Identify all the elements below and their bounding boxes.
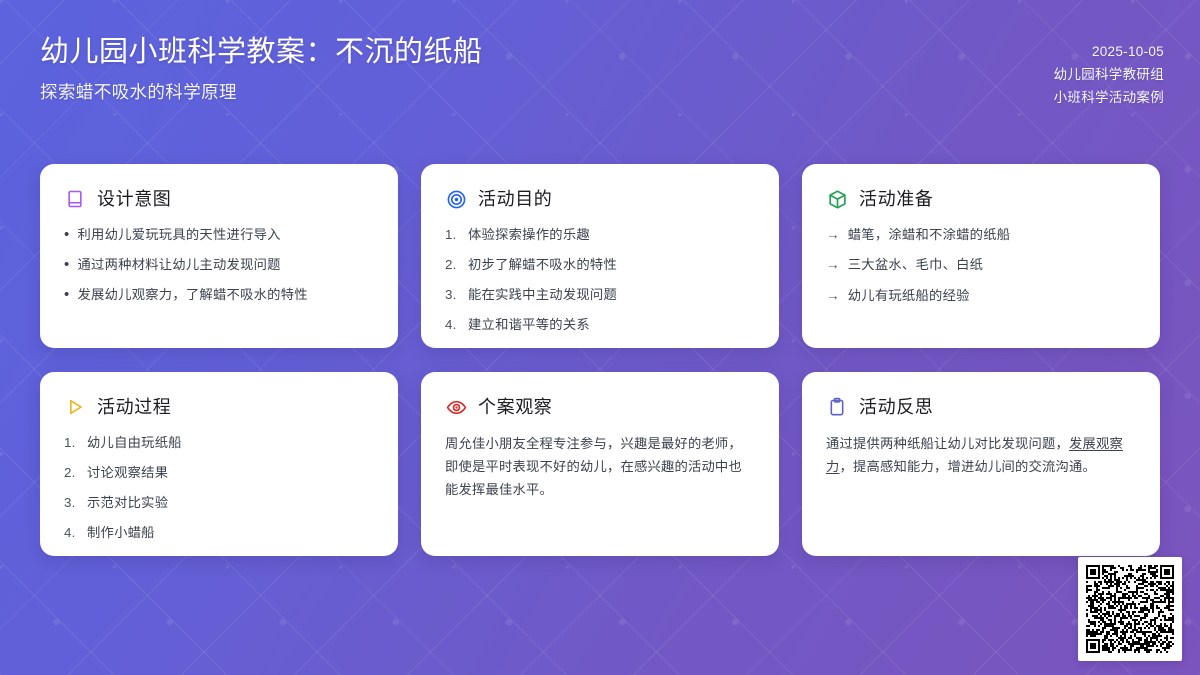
list-item: 1.体验探索操作的乐趣	[445, 225, 755, 246]
list-item-text: 初步了解蜡不吸水的特性	[468, 255, 755, 276]
list-item-text: 讨论观察结果	[87, 463, 374, 484]
list-item-text: 幼儿自由玩纸船	[87, 433, 374, 454]
list-item-text: 建立和谐平等的关系	[468, 315, 755, 336]
card-list: 1.幼儿自由玩纸船2.讨论观察结果3.示范对比实验4.制作小蜡船	[64, 433, 374, 544]
list-item: 3.示范对比实验	[64, 493, 374, 514]
list-item: →蜡笔，涂蜡和不涂蜡的纸船	[826, 225, 1136, 246]
arrow-icon: →	[826, 225, 840, 246]
list-item-text: 发展幼儿观察力，了解蜡不吸水的特性	[78, 285, 374, 306]
card-header: 活动目的	[445, 188, 755, 210]
page-header: 幼儿园小班科学教案：不沉的纸船 探索蜡不吸水的科学原理 2025-10-05 幼…	[0, 0, 1200, 150]
bullet-icon: •	[64, 225, 70, 246]
card-design-intent: 设计意图•利用幼儿爱玩玩具的天性进行导入•通过两种材料让幼儿主动发现问题•发展幼…	[40, 164, 398, 348]
list-item-text: 示范对比实验	[87, 493, 374, 514]
eye-icon	[445, 396, 467, 418]
list-marker-number: 1.	[64, 433, 79, 454]
arrow-icon: →	[826, 286, 840, 307]
list-marker-number: 2.	[64, 463, 79, 484]
meta-organization: 幼儿园科学教研组	[1054, 63, 1164, 86]
card-header: 活动反思	[826, 396, 1136, 418]
list-item: 4.建立和谐平等的关系	[445, 315, 755, 336]
list-item-text: 通过两种材料让幼儿主动发现问题	[78, 255, 374, 276]
card-title: 活动目的	[478, 190, 552, 208]
card-list: 1.体验探索操作的乐趣2.初步了解蜡不吸水的特性3.能在实践中主动发现问题4.建…	[445, 225, 755, 336]
qr-code[interactable]	[1078, 557, 1182, 661]
list-item: →三大盆水、毛巾、白纸	[826, 255, 1136, 276]
page-title: 幼儿园小班科学教案：不沉的纸船	[40, 34, 483, 70]
card-activity-reflection: 活动反思通过提供两种纸船让幼儿对比发现问题，发展观察力，提高感知能力，增进幼儿间…	[802, 372, 1160, 556]
list-item: →幼儿有玩纸船的经验	[826, 286, 1136, 307]
package-icon	[826, 188, 848, 210]
card-header: 设计意图	[64, 188, 374, 210]
paragraph-text: ，提高感知能力，增进幼儿间的交流沟通。	[840, 459, 1096, 474]
list-item-text: 三大盆水、毛巾、白纸	[848, 255, 1136, 276]
list-marker-number: 4.	[445, 315, 460, 336]
slide-canvas: 幼儿园小班科学教案：不沉的纸船 探索蜡不吸水的科学原理 2025-10-05 幼…	[0, 0, 1200, 675]
card-title: 活动反思	[859, 398, 933, 416]
card-header: 活动准备	[826, 188, 1136, 210]
page-subtitle: 探索蜡不吸水的科学原理	[40, 79, 483, 104]
card-activity-prep: 活动准备→蜡笔，涂蜡和不涂蜡的纸船→三大盆水、毛巾、白纸→幼儿有玩纸船的经验	[802, 164, 1160, 348]
card-case-observation: 个案观察周允佳小朋友全程专注参与，兴趣是最好的老师，即使是平时表现不好的幼儿，在…	[421, 372, 779, 556]
list-item: •发展幼儿观察力，了解蜡不吸水的特性	[64, 285, 374, 306]
card-paragraph: 通过提供两种纸船让幼儿对比发现问题，发展观察力，提高感知能力，增进幼儿间的交流沟…	[826, 433, 1136, 479]
list-item-text: 蜡笔，涂蜡和不涂蜡的纸船	[848, 225, 1136, 246]
list-item: •通过两种材料让幼儿主动发现问题	[64, 255, 374, 276]
list-item: 2.讨论观察结果	[64, 463, 374, 484]
list-item: •利用幼儿爱玩玩具的天性进行导入	[64, 225, 374, 246]
list-item-text: 制作小蜡船	[87, 523, 374, 544]
list-item-text: 体验探索操作的乐趣	[468, 225, 755, 246]
card-header: 活动过程	[64, 396, 374, 418]
card-list: →蜡笔，涂蜡和不涂蜡的纸船→三大盆水、毛巾、白纸→幼儿有玩纸船的经验	[826, 225, 1136, 307]
book-icon	[64, 188, 86, 210]
card-grid: 设计意图•利用幼儿爱玩玩具的天性进行导入•通过两种材料让幼儿主动发现问题•发展幼…	[40, 164, 1160, 556]
meta-date: 2025-10-05	[1054, 40, 1164, 63]
card-paragraph: 周允佳小朋友全程专注参与，兴趣是最好的老师，即使是平时表现不好的幼儿，在感兴趣的…	[445, 433, 755, 502]
meta-category: 小班科学活动案例	[1054, 86, 1164, 109]
card-header: 个案观察	[445, 396, 755, 418]
clipboard-icon	[826, 396, 848, 418]
list-marker-number: 3.	[64, 493, 79, 514]
list-item: 4.制作小蜡船	[64, 523, 374, 544]
list-item: 2.初步了解蜡不吸水的特性	[445, 255, 755, 276]
list-marker-number: 4.	[64, 523, 79, 544]
qr-code-image	[1086, 565, 1174, 653]
list-marker-number: 1.	[445, 225, 460, 246]
list-item: 3.能在实践中主动发现问题	[445, 285, 755, 306]
list-marker-number: 3.	[445, 285, 460, 306]
list-item-text: 幼儿有玩纸船的经验	[848, 286, 1136, 307]
paragraph-text: 通过提供两种纸船让幼儿对比发现问题，	[826, 436, 1069, 451]
card-title: 活动过程	[97, 398, 171, 416]
header-meta: 2025-10-05 幼儿园科学教研组 小班科学活动案例	[1054, 34, 1164, 110]
card-activity-process: 活动过程1.幼儿自由玩纸船2.讨论观察结果3.示范对比实验4.制作小蜡船	[40, 372, 398, 556]
list-marker-number: 2.	[445, 255, 460, 276]
bullet-icon: •	[64, 255, 70, 276]
list-item-text: 能在实践中主动发现问题	[468, 285, 755, 306]
title-block: 幼儿园小班科学教案：不沉的纸船 探索蜡不吸水的科学原理	[40, 34, 483, 104]
card-title: 设计意图	[97, 190, 171, 208]
card-list: •利用幼儿爱玩玩具的天性进行导入•通过两种材料让幼儿主动发现问题•发展幼儿观察力…	[64, 225, 374, 306]
card-title: 个案观察	[478, 398, 552, 416]
card-title: 活动准备	[859, 190, 933, 208]
arrow-icon: →	[826, 255, 840, 276]
card-activity-goal: 活动目的1.体验探索操作的乐趣2.初步了解蜡不吸水的特性3.能在实践中主动发现问…	[421, 164, 779, 348]
bullet-icon: •	[64, 285, 70, 306]
target-icon	[445, 188, 467, 210]
list-item: 1.幼儿自由玩纸船	[64, 433, 374, 454]
list-item-text: 利用幼儿爱玩玩具的天性进行导入	[78, 225, 374, 246]
play-triangle-icon	[64, 396, 86, 418]
